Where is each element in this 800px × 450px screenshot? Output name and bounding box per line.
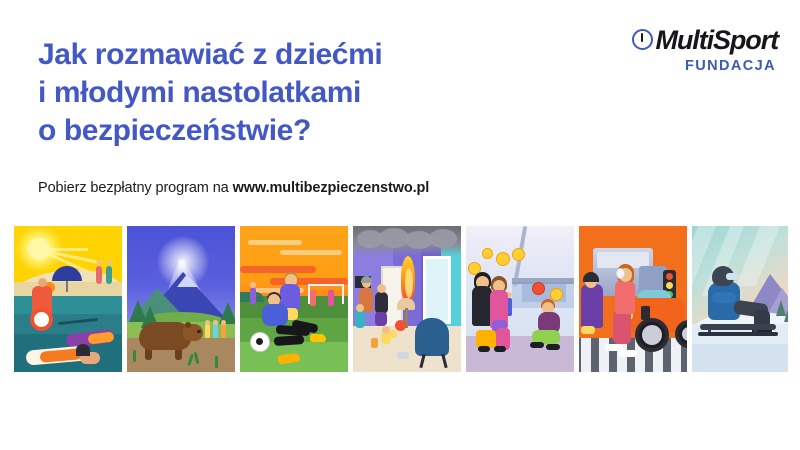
- scene-mountain-bear: [127, 226, 235, 372]
- scene-football-pitch: [240, 226, 348, 372]
- headline-line-2: i młodymi nastolatkami: [38, 74, 578, 112]
- scene-mall-emoji: [466, 226, 574, 372]
- scene-winter-sledding: [692, 226, 788, 372]
- subtitle-cta: Pobierz bezpłatny program na www.multibe…: [38, 180, 429, 196]
- logo-wordmark: MultiSport: [656, 28, 778, 54]
- scene-house-fire: [353, 226, 461, 372]
- multisport-logo: MultiSport FUNDACJA: [578, 28, 778, 74]
- card-wypoczynek-nad-woda[interactable]: Wypoczynek nad wodą: [14, 226, 122, 372]
- illustration-strip: Wypoczynek nad wodą: [14, 226, 790, 372]
- page-title: Jak rozmawiać z dziećmi i młodymi nastol…: [38, 36, 578, 149]
- subtitle-prefix: Pobierz bezpłatny program na: [38, 180, 233, 196]
- poster-root: Jak rozmawiać z dziećmi i młodymi nastol…: [0, 0, 800, 450]
- logo-row: MultiSport: [578, 28, 778, 54]
- multisport-circle-mark-icon: [632, 29, 653, 50]
- website-url[interactable]: www.multibezpieczenstwo.pl: [233, 180, 430, 196]
- card-bezpiecznie-w-drodze[interactable]: Bezpiecznie w drodze: [579, 226, 687, 372]
- scene-beach-water: [14, 226, 122, 372]
- card-mlodzi-w-centrum-handlowym[interactable]: Młodzi w centrum handlowym: [466, 226, 574, 372]
- scene-street-crossing: [579, 226, 687, 372]
- logo-subtitle: FUNDACJA: [578, 58, 778, 74]
- headline-line-1: Jak rozmawiać z dziećmi: [38, 36, 578, 74]
- headline-line-3: o bezpieczeństwie?: [38, 112, 578, 150]
- card-bezpieczny-dom[interactable]: Bezpieczny dom: [353, 226, 461, 372]
- card-wyprawy-na-lono-natury[interactable]: Wyprawy na łono natury: [127, 226, 235, 372]
- card-bezpieczna-zima[interactable]: Bezpieczna zima: [692, 226, 788, 372]
- card-publiczne-miejsca-sportowe[interactable]: Publiczne miejsca sportowe: [240, 226, 348, 372]
